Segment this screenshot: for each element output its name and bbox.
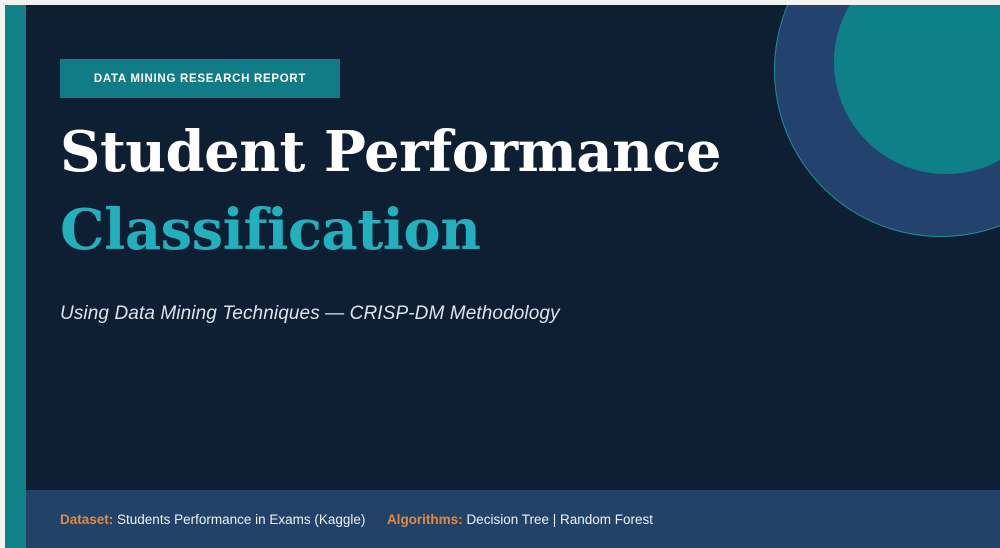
footer-algorithms-value: Decision Tree | Random Forest bbox=[466, 512, 653, 527]
footer-algorithms-label: Algorithms: bbox=[387, 512, 467, 527]
left-margin-strip bbox=[0, 0, 5, 548]
left-accent-bar bbox=[5, 5, 26, 548]
slide-title-line-1: Student Performance bbox=[60, 124, 721, 180]
slide-subtitle: Using Data Mining Techniques — CRISP-DM … bbox=[60, 303, 560, 325]
slide-title-line-2: Classification bbox=[60, 202, 480, 258]
slide-footer-bar: Dataset: Students Performance in Exams (… bbox=[26, 490, 1000, 548]
title-slide: DATA MINING RESEARCH REPORT Student Perf… bbox=[0, 0, 1000, 548]
report-type-badge-label: DATA MINING RESEARCH REPORT bbox=[94, 73, 306, 85]
footer-meta: Dataset: Students Performance in Exams (… bbox=[60, 512, 653, 527]
slide-content: DATA MINING RESEARCH REPORT Student Perf… bbox=[60, 0, 780, 490]
footer-dataset-label: Dataset: bbox=[60, 512, 117, 527]
report-type-badge: DATA MINING RESEARCH REPORT bbox=[60, 59, 340, 98]
top-margin-strip bbox=[0, 0, 1000, 5]
footer-dataset-value: Students Performance in Exams (Kaggle) bbox=[117, 512, 365, 527]
